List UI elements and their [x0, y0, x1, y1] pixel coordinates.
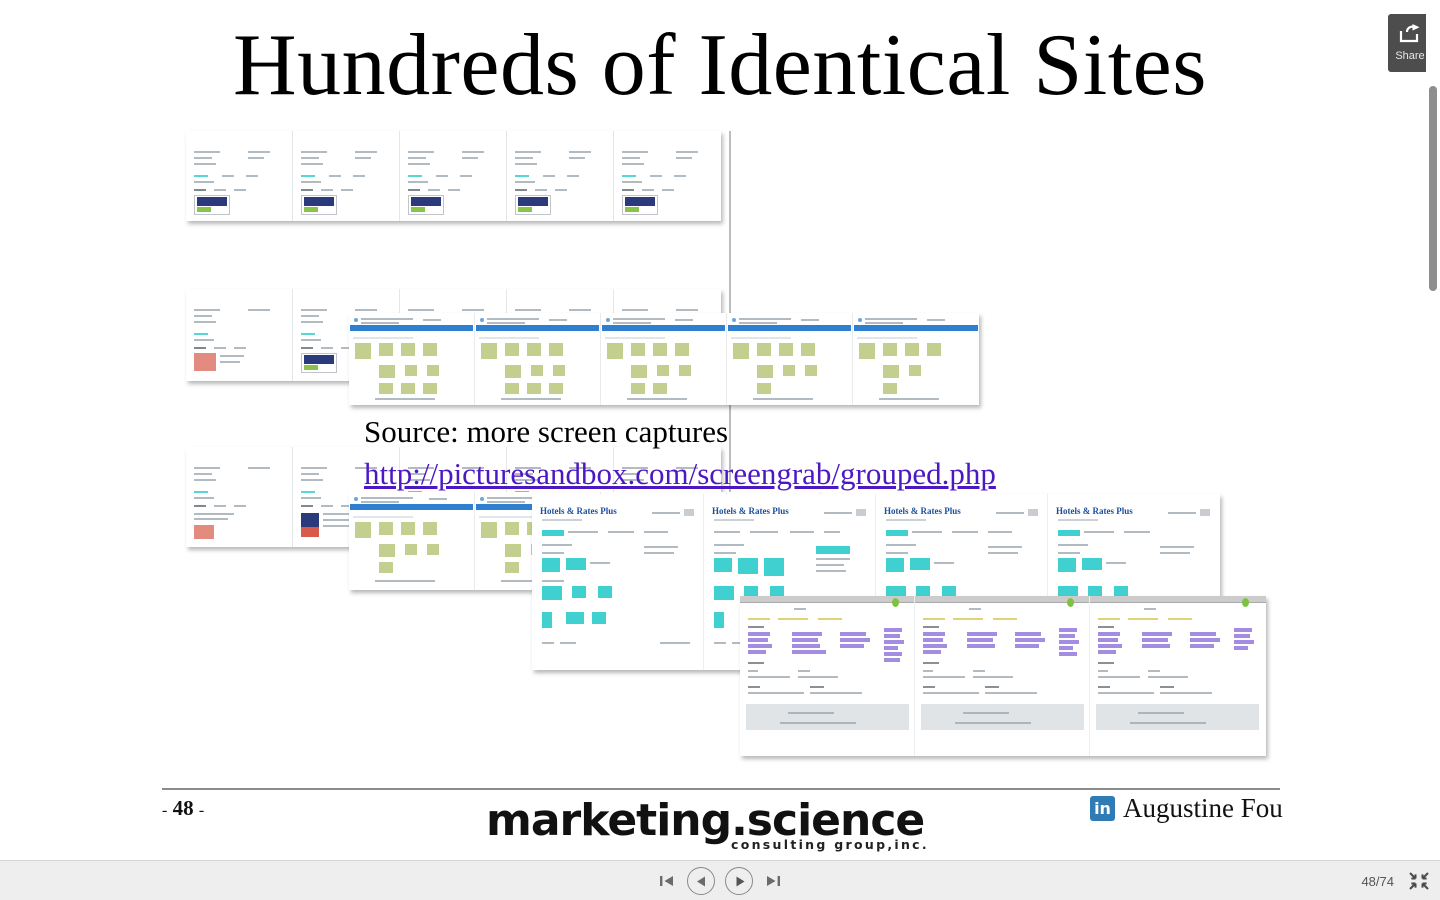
thumbnail-image [194, 353, 216, 371]
thumbnail-image [301, 527, 319, 537]
site-brand-text: Hotels & Rates Plus [540, 506, 617, 516]
site-logo-card [301, 195, 337, 215]
share-button-label: Share [1395, 50, 1424, 62]
site-logo-card [301, 353, 337, 373]
author-byline: in Augustine Fou [1090, 793, 1283, 824]
site-tile: Hotels & Rates Plus [532, 494, 704, 670]
collage-shot-bluegreen-1 [349, 313, 979, 405]
last-slide-button[interactable] [763, 871, 783, 891]
exit-fullscreen-icon[interactable] [1406, 869, 1432, 893]
site-brand-text: Hotels & Rates Plus [884, 506, 961, 516]
site-tile [601, 313, 727, 405]
slide-canvas: Hundreds of Identical Sites [0, 0, 1440, 860]
footer-panel [746, 704, 909, 730]
footer-panel [921, 704, 1084, 730]
collage-shot-purple-directory [740, 596, 1266, 756]
first-slide-button[interactable] [657, 871, 677, 891]
site-logo-card [194, 195, 230, 215]
page-number-dash-left: - [162, 802, 167, 819]
thumbnail-image [194, 525, 214, 539]
site-tile [186, 289, 293, 381]
site-tile [740, 596, 915, 756]
share-export-icon [1399, 24, 1421, 48]
site-tile [186, 447, 293, 547]
site-tile [186, 131, 293, 221]
vertical-scrollbar-track[interactable] [1426, 0, 1440, 860]
site-tile [507, 131, 614, 221]
vertical-scrollbar-thumb[interactable] [1429, 86, 1437, 291]
site-brand-text: Hotels & Rates Plus [712, 506, 789, 516]
site-brand-text: Hotels & Rates Plus [1056, 506, 1133, 516]
source-label: Source: more screen captures [364, 414, 728, 450]
collage-shot-cyan-top [186, 131, 721, 221]
site-tile [475, 313, 601, 405]
footer-divider [162, 788, 1280, 790]
site-tile [614, 131, 721, 221]
playback-controls [657, 861, 783, 900]
footer-panel [1096, 704, 1259, 730]
site-tile [400, 131, 507, 221]
marketing-science-logo: marketing.science consulting group,inc. [486, 795, 958, 851]
page-number-dash-right: - [199, 802, 204, 819]
logo-tagline: consulting group,inc. [731, 837, 929, 852]
site-tile [727, 313, 853, 405]
page-title: Hundreds of Identical Sites [150, 18, 1290, 113]
author-name: Augustine Fou [1123, 793, 1283, 824]
site-logo-card [408, 195, 444, 215]
slide-page-number: - 48 - [162, 796, 204, 821]
site-logo-card [622, 195, 658, 215]
site-logo-card [515, 195, 551, 215]
player-toolbar: 48/74 [0, 860, 1440, 900]
page-counter: 48/74 [1361, 861, 1394, 900]
site-tile [853, 313, 979, 405]
site-tile [349, 492, 475, 590]
page-number-value: 48 [173, 796, 194, 820]
site-tile [915, 596, 1090, 756]
linkedin-icon[interactable]: in [1090, 796, 1115, 821]
source-url-link[interactable]: http://picturesandbox.com/screengrab/gro… [364, 456, 996, 492]
site-tile [1090, 596, 1266, 756]
play-button[interactable] [725, 867, 753, 895]
site-tile [293, 131, 400, 221]
site-tile [349, 313, 475, 405]
slide-viewer: Hundreds of Identical Sites [0, 0, 1440, 900]
previous-slide-button[interactable] [687, 867, 715, 895]
